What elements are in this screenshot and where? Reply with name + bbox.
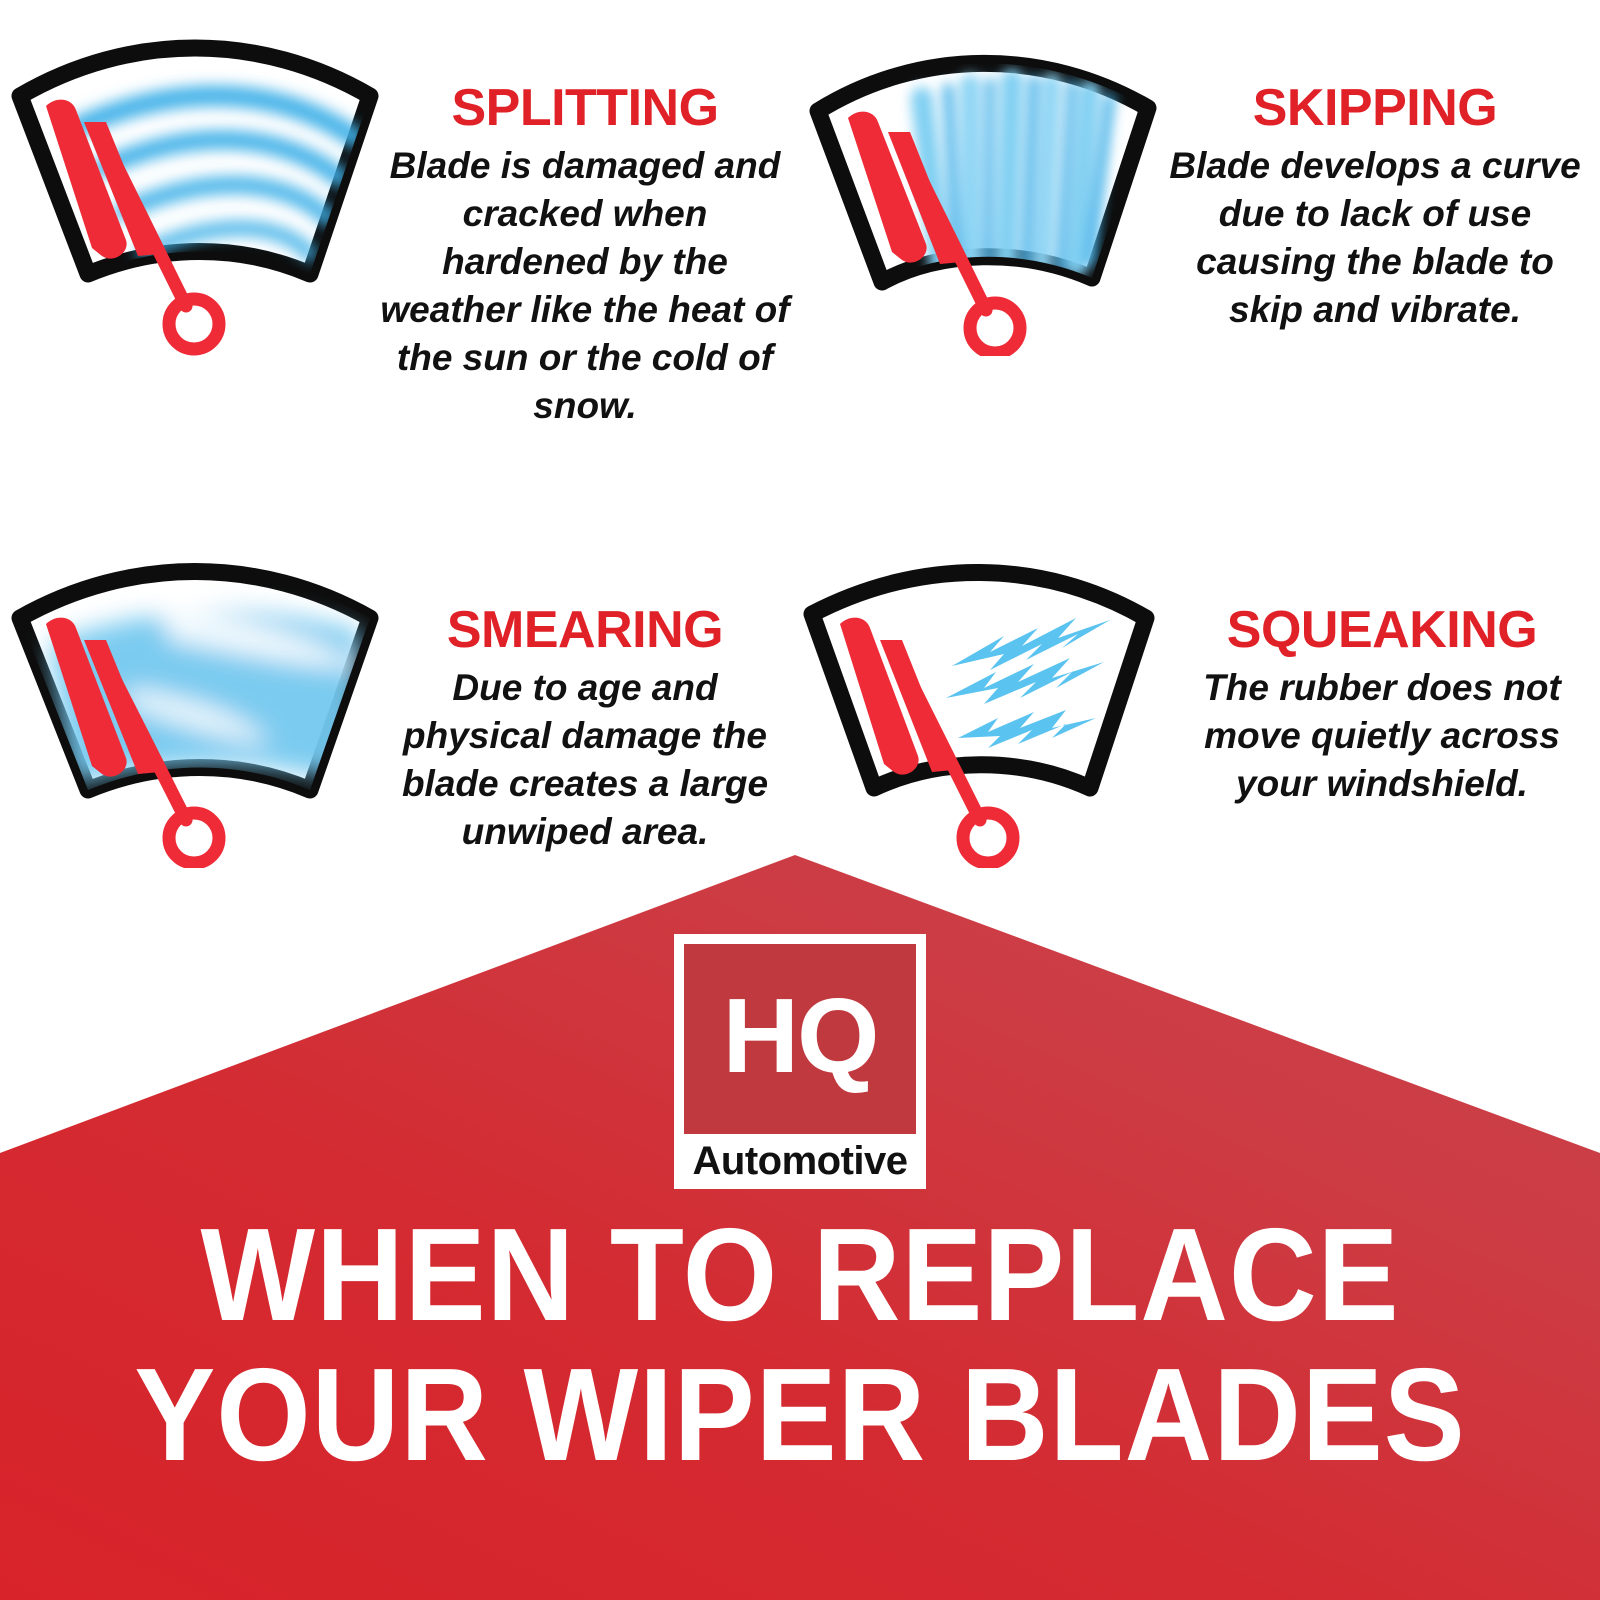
card-title: SPLITTING bbox=[380, 82, 790, 134]
wiper-blade-skipping-icon bbox=[790, 26, 1160, 356]
headline-line-1: WHEN TO REPLACE bbox=[64, 1205, 1536, 1345]
logo-mark-box: HQ bbox=[684, 944, 916, 1134]
card-title: SMEARING bbox=[380, 604, 790, 656]
card-text-squeaking: SQUEAKING The rubber does not move quiet… bbox=[1160, 548, 1590, 808]
headline-block: WHEN TO REPLACE YOUR WIPER BLADES bbox=[0, 1205, 1600, 1485]
logo-mark-text: HQ bbox=[723, 983, 878, 1089]
wiper-blade-splitting-icon bbox=[10, 26, 380, 356]
headline-line-2: YOUR WIPER BLADES bbox=[64, 1345, 1536, 1485]
card-description: The rubber does not move quietly across … bbox=[1174, 664, 1590, 808]
card-description: Blade develops a curve due to lack of us… bbox=[1160, 142, 1590, 334]
problem-card-skipping: SKIPPING Blade develops a curve due to l… bbox=[790, 26, 1590, 356]
logo-subtitle: Automotive bbox=[684, 1134, 916, 1188]
bottom-banner: HQ Automotive WHEN TO REPLACE YOUR WIPER… bbox=[0, 820, 1600, 1600]
card-text-splitting: SPLITTING Blade is damaged and cracked w… bbox=[380, 26, 790, 431]
card-description: Blade is damaged and cracked when harden… bbox=[380, 142, 790, 431]
card-text-skipping: SKIPPING Blade develops a curve due to l… bbox=[1160, 26, 1590, 334]
card-title: SQUEAKING bbox=[1174, 604, 1590, 656]
card-title: SKIPPING bbox=[1160, 82, 1590, 134]
hq-automotive-logo: HQ Automotive bbox=[674, 934, 926, 1189]
infographic-page: SPLITTING Blade is damaged and cracked w… bbox=[0, 0, 1600, 1600]
card-text-smearing: SMEARING Due to age and physical damage … bbox=[380, 548, 790, 856]
problem-card-splitting: SPLITTING Blade is damaged and cracked w… bbox=[10, 26, 790, 431]
